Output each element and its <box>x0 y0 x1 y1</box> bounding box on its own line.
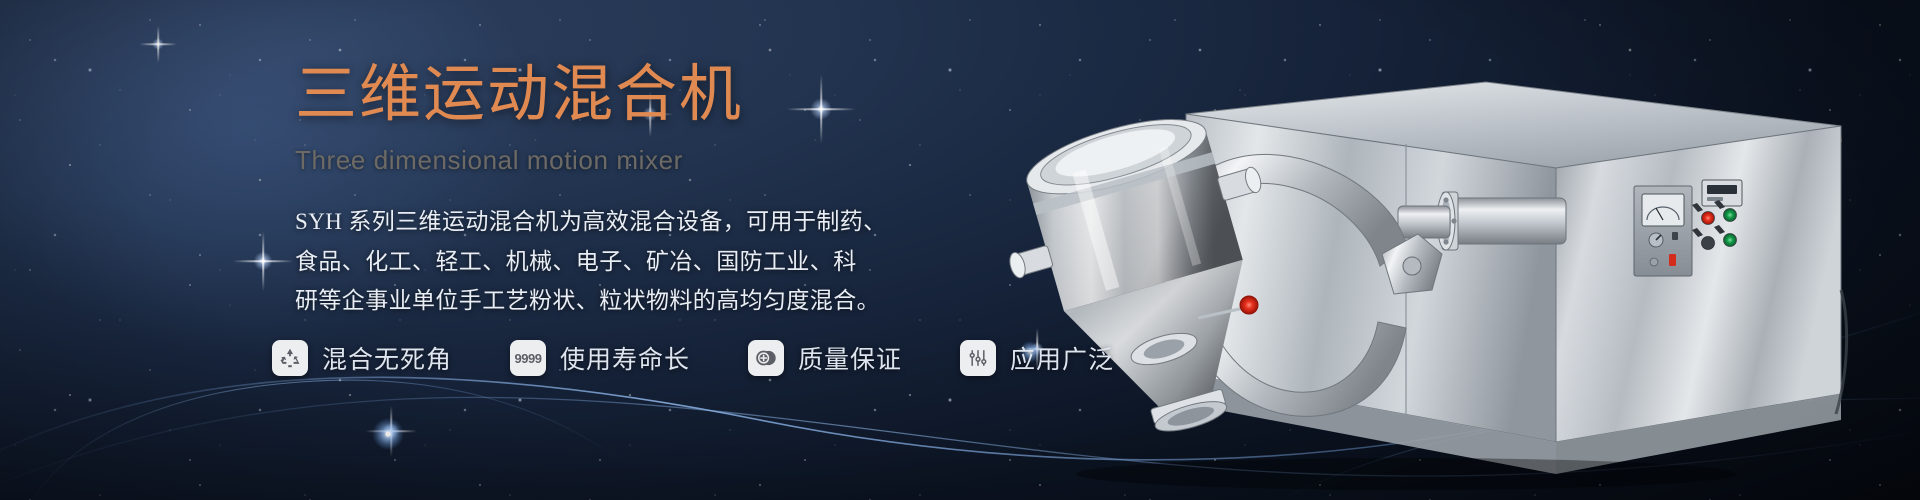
page-subtitle: Three dimensional motion mixer <box>295 145 935 176</box>
quality-coin-icon <box>748 340 784 376</box>
lifespan-9999-icon: 9999 <box>510 340 546 376</box>
hero-description-line: SYH 系列三维运动混合机为高效混合设备，可用于制药、 <box>295 202 935 242</box>
bright-star-left <box>250 248 276 274</box>
hero-description: SYH 系列三维运动混合机为高效混合设备，可用于制药、 食品、化工、轻工、机械、… <box>295 202 935 321</box>
feature-item-application[interactable]: 应用广泛 <box>960 340 1114 376</box>
feature-label: 质量保证 <box>798 340 902 376</box>
sliders-icon <box>960 340 996 376</box>
three-dimensional-motion-mixer-photo <box>846 22 1856 492</box>
hero-banner: 三维运动混合机 Three dimensional motion mixer S… <box>0 0 1920 500</box>
feature-item-lifespan[interactable]: 9999 使用寿命长 <box>510 340 690 376</box>
product-image <box>846 22 1856 492</box>
feature-item-mixing[interactable]: 混合无死角 <box>272 340 452 376</box>
bright-star-top <box>150 36 166 52</box>
feature-list: 混合无死角 9999 使用寿命长 质量保证 <box>272 340 1114 376</box>
hero-description-line: 研等企事业单位手工艺粉状、粒状物料的高均匀度混合。 <box>295 281 935 321</box>
feature-label: 使用寿命长 <box>560 340 690 376</box>
hero-copy: 三维运动混合机 Three dimensional motion mixer S… <box>295 62 935 321</box>
feature-item-quality[interactable]: 质量保证 <box>748 340 902 376</box>
page-title: 三维运动混合机 <box>295 62 935 129</box>
feature-label: 混合无死角 <box>322 340 452 376</box>
lifespan-icon-text: 9999 <box>515 351 542 366</box>
bright-star-low <box>380 420 402 442</box>
recycle-icon <box>272 340 308 376</box>
hero-description-line: 食品、化工、轻工、机械、电子、矿冶、国防工业、科 <box>295 242 935 282</box>
feature-label: 应用广泛 <box>1010 340 1114 376</box>
